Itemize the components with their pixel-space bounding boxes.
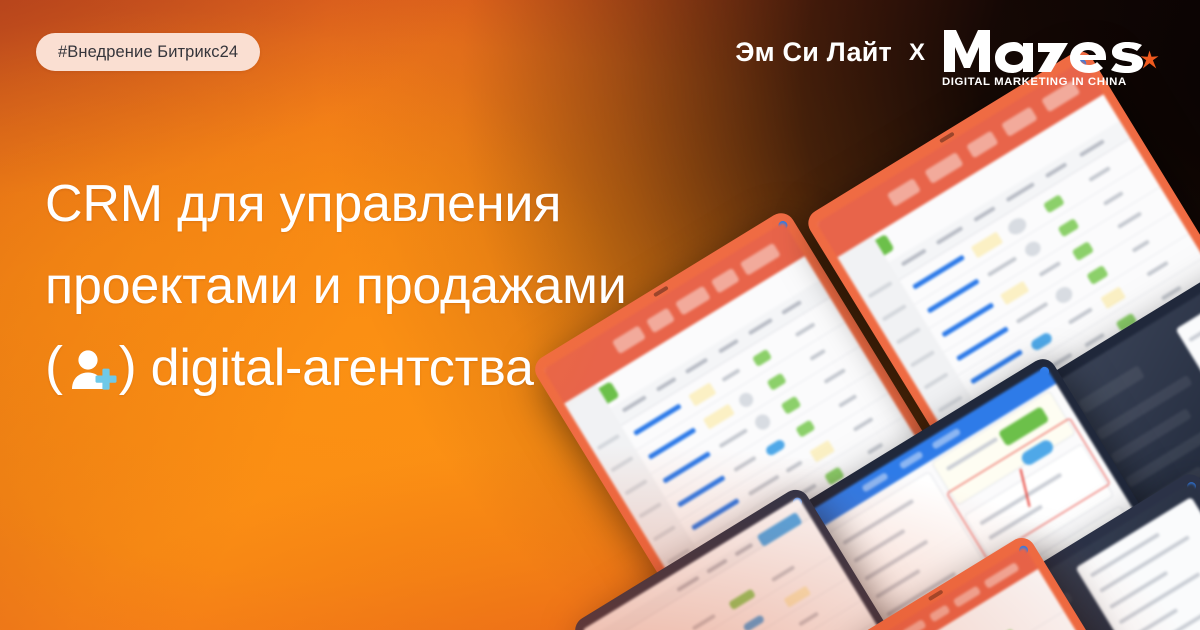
- headline-line-3-text: digital-агентства: [151, 327, 534, 409]
- add-user-icon: [64, 344, 118, 398]
- paren-close: ): [119, 339, 137, 393]
- hashtag-badge: #Внедрение Битрикс24: [36, 33, 260, 71]
- page-title: CRM для управления проектами и продажами…: [45, 163, 835, 410]
- partner-logo-text: Эм Си Лайт: [735, 28, 892, 68]
- headline-line-3: ( ) digital-агентства: [45, 327, 835, 410]
- mates-star-icon: [1140, 50, 1159, 69]
- mates-logo: DIGITAL MARKETING IN CHINA: [942, 28, 1156, 88]
- mates-tagline: DIGITAL MARKETING IN CHINA: [942, 76, 1156, 88]
- promo-banner: #Внедрение Битрикс24 Эм Си Лайт X: [0, 0, 1200, 630]
- headline-line-1: CRM для управления: [45, 163, 835, 245]
- headline-line-2: проектами и продажами: [45, 245, 835, 327]
- mates-wordmark: [942, 28, 1156, 74]
- paren-open: (: [45, 339, 63, 393]
- logo-lockup: Эм Си Лайт X: [735, 28, 1156, 94]
- logo-separator: X: [909, 28, 925, 67]
- hashtag-badge-label: #Внедрение Битрикс24: [58, 43, 238, 62]
